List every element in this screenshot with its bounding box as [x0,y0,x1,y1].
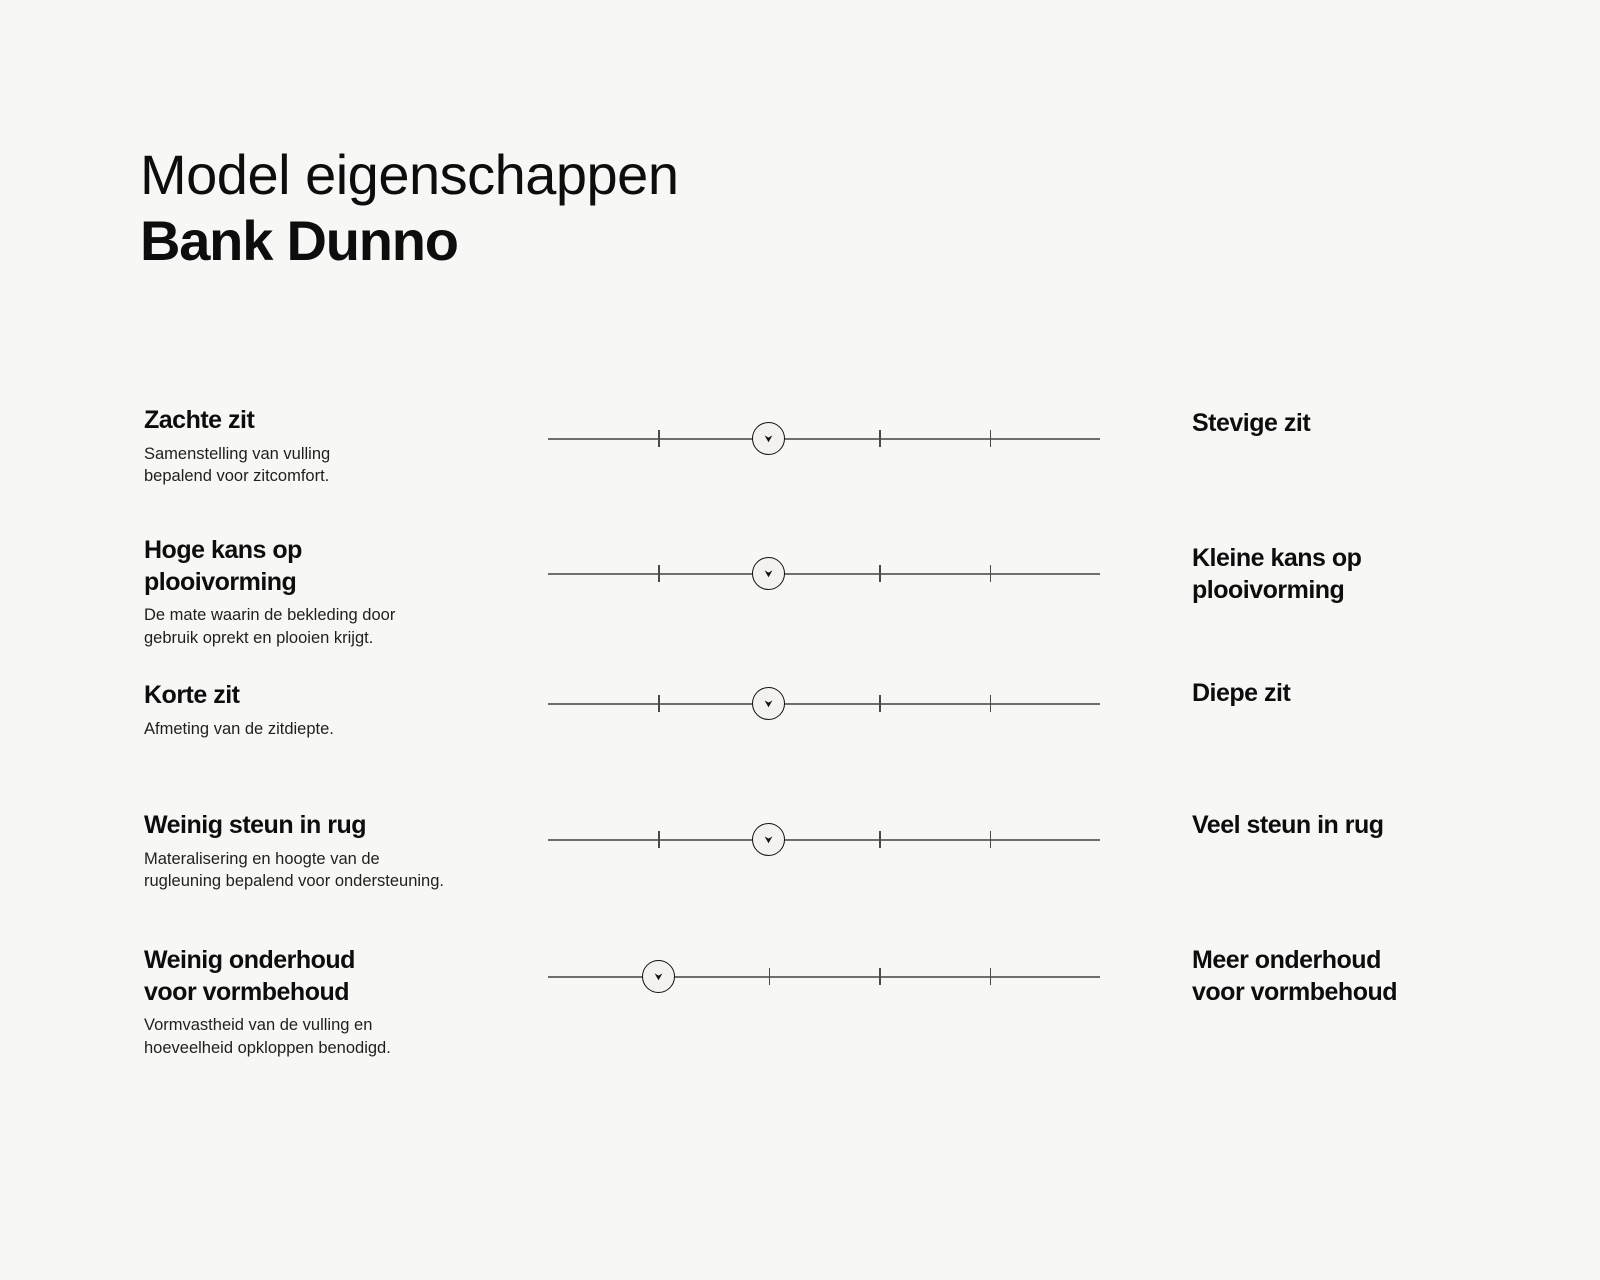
page-title-line-1: Model eigenschappen [140,142,678,208]
property-slider[interactable] [548,552,1100,596]
slider-tick [658,695,660,712]
row-left-title: Weinig onderhoud voor vormbehoud [144,945,544,1008]
row-right-label-group: Stevige zit [1192,408,1562,440]
row-right-label-group: Meer onderhoud voor vormbehoud [1192,945,1562,1008]
row-left-title: Hoge kans op plooivorming [144,535,544,598]
slider-tick [990,695,992,712]
row-left-label-group: Weinig onderhoud voor vormbehoudVormvast… [144,945,544,1060]
slider-tick [879,695,881,712]
row-left-label-group: Hoge kans op plooivormingDe mate waarin … [144,535,544,650]
row-description: Samenstelling van vulling bepalend voor … [144,443,544,489]
row-left-title: Weinig steun in rug [144,810,544,842]
slider-marker-handle[interactable] [752,823,785,856]
property-slider[interactable] [548,682,1100,726]
row-right-title: Stevige zit [1192,408,1562,440]
row-right-title: Veel steun in rug [1192,810,1562,842]
slider-marker-handle[interactable] [752,422,785,455]
model-properties-infographic: Model eigenschappen Bank Dunno Zachte zi… [0,0,1600,1280]
slider-marker-handle[interactable] [752,557,785,590]
slider-marker-handle[interactable] [642,960,675,993]
slider-marker-handle[interactable] [752,687,785,720]
row-left-label-group: Korte zitAfmeting van de zitdiepte. [144,680,544,740]
slider-tick [990,968,992,985]
row-left-label-group: Weinig steun in rugMateralisering en hoo… [144,810,544,893]
slider-tick [879,968,881,985]
slider-track[interactable] [548,438,1100,440]
slider-tick [990,831,992,848]
row-right-label-group: Veel steun in rug [1192,810,1562,842]
row-description: Vormvastheid van de vulling en hoeveelhe… [144,1014,544,1060]
slider-track[interactable] [548,839,1100,841]
slider-tick [658,430,660,447]
slider-tick [879,831,881,848]
slider-track[interactable] [548,573,1100,575]
row-right-title: Meer onderhoud voor vormbehoud [1192,945,1562,1008]
row-left-title: Korte zit [144,680,544,712]
row-right-title: Kleine kans op plooivorming [1192,543,1562,606]
row-description: De mate waarin de bekleding door gebruik… [144,604,544,650]
row-right-title: Diepe zit [1192,678,1562,710]
page-title-line-2: Bank Dunno [140,208,678,274]
chevron-down-icon [762,432,775,445]
slider-tick [990,565,992,582]
slider-track[interactable] [548,976,1100,978]
row-right-label-group: Kleine kans op plooivorming [1192,543,1562,606]
slider-track[interactable] [548,703,1100,705]
row-left-label-group: Zachte zitSamenstelling van vulling bepa… [144,405,544,488]
row-description: Materalisering en hoogte van de rugleuni… [144,848,544,894]
property-slider[interactable] [548,955,1100,999]
chevron-down-icon [762,697,775,710]
row-left-title: Zachte zit [144,405,544,437]
row-right-label-group: Diepe zit [1192,678,1562,710]
chevron-down-icon [762,567,775,580]
slider-tick [769,968,771,985]
page-header: Model eigenschappen Bank Dunno [140,142,678,274]
chevron-down-icon [652,970,665,983]
slider-tick [990,430,992,447]
row-description: Afmeting van de zitdiepte. [144,718,544,741]
property-slider[interactable] [548,417,1100,461]
slider-tick [879,430,881,447]
chevron-down-icon [762,833,775,846]
slider-tick [879,565,881,582]
slider-tick [658,565,660,582]
slider-tick [658,831,660,848]
property-slider[interactable] [548,818,1100,862]
